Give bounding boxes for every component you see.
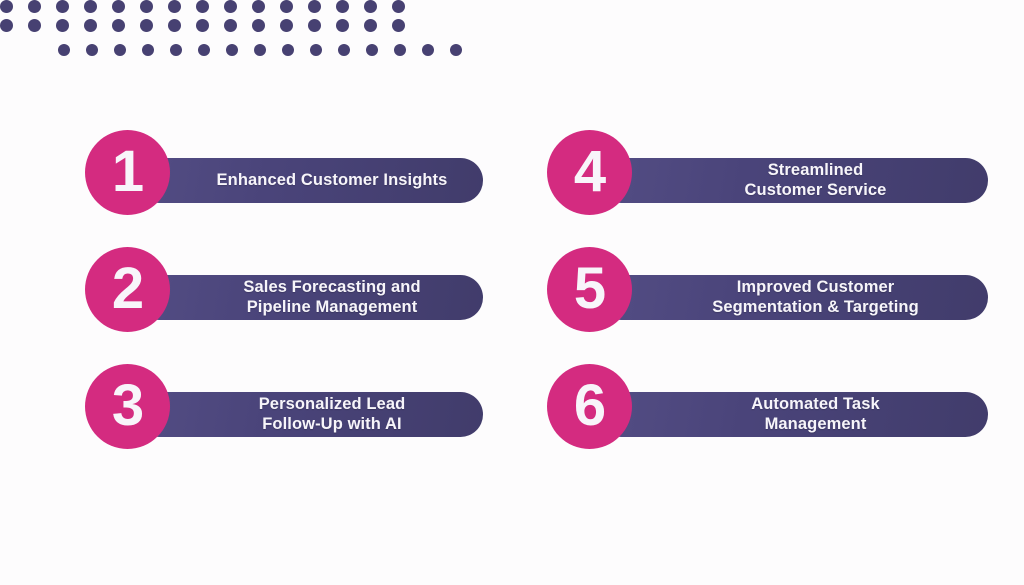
decorative-dot — [114, 44, 126, 56]
decorative-dot — [140, 19, 153, 32]
item-number: 1 — [112, 143, 143, 201]
item-number-badge: 4 — [547, 130, 632, 215]
decorative-dot — [282, 44, 294, 56]
list-item[interactable]: Enhanced Customer Insights 1 — [85, 130, 483, 215]
item-number-badge: 2 — [85, 247, 170, 332]
decorative-dot — [28, 19, 41, 32]
decorative-dot — [84, 0, 97, 13]
item-number: 5 — [574, 260, 605, 318]
decorative-dot — [196, 19, 209, 32]
item-bar: Enhanced Customer Insights — [137, 158, 483, 203]
decorative-dot — [308, 19, 321, 32]
infographic-canvas: Enhanced Customer Insights 1 Sales Forec… — [0, 0, 1024, 585]
item-number-badge: 5 — [547, 247, 632, 332]
decorative-dot — [336, 0, 349, 13]
item-label: Improved Customer Segmentation & Targeti… — [712, 278, 919, 317]
decorative-dot — [58, 44, 70, 56]
items-column-left: Enhanced Customer Insights 1 Sales Forec… — [85, 130, 483, 449]
decorative-dot — [224, 19, 237, 32]
list-item[interactable]: Automated Task Management 6 — [547, 364, 988, 449]
decorative-dot — [280, 0, 293, 13]
decorative-dot — [308, 0, 321, 13]
decorative-dot — [392, 0, 405, 13]
decorative-dot — [422, 44, 434, 56]
decorative-dot — [366, 44, 378, 56]
decorative-dot — [196, 0, 209, 13]
decorative-dot — [168, 19, 181, 32]
item-label: Personalized Lead Follow-Up with AI — [259, 395, 406, 434]
decorative-dot — [392, 19, 405, 32]
item-bar: Streamlined Customer Service — [599, 158, 988, 203]
dot-grid-row — [0, 0, 1024, 13]
decorative-dot — [254, 44, 266, 56]
items-column-right: Streamlined Customer Service 4 Improved … — [547, 130, 988, 449]
item-label: Automated Task Management — [751, 395, 880, 434]
item-number: 4 — [574, 143, 605, 201]
dot-grid-row — [0, 19, 1024, 32]
item-label: Streamlined Customer Service — [745, 161, 887, 200]
item-number-badge: 6 — [547, 364, 632, 449]
item-bar: Personalized Lead Follow-Up with AI — [137, 392, 483, 437]
decorative-dot — [450, 44, 462, 56]
item-label: Sales Forecasting and Pipeline Managemen… — [243, 278, 420, 317]
item-bar: Automated Task Management — [599, 392, 988, 437]
list-item[interactable]: Personalized Lead Follow-Up with AI 3 — [85, 364, 483, 449]
decorative-dot — [112, 19, 125, 32]
decorative-dot — [56, 0, 69, 13]
item-number: 6 — [574, 377, 605, 435]
decorative-dot — [168, 0, 181, 13]
item-bar: Sales Forecasting and Pipeline Managemen… — [137, 275, 483, 320]
decorative-dot — [112, 0, 125, 13]
decorative-dot — [0, 0, 13, 13]
decorative-dot — [252, 19, 265, 32]
item-number: 2 — [112, 260, 143, 318]
list-item[interactable]: Improved Customer Segmentation & Targeti… — [547, 247, 988, 332]
decorative-dot — [394, 44, 406, 56]
bottom-dot-grid — [0, 0, 1024, 32]
item-label: Enhanced Customer Insights — [217, 171, 448, 190]
decorative-dot — [364, 0, 377, 13]
decorative-dot — [140, 0, 153, 13]
decorative-dot — [56, 19, 69, 32]
item-bar: Improved Customer Segmentation & Targeti… — [599, 275, 988, 320]
top-dot-row — [58, 44, 462, 56]
decorative-dot — [224, 0, 237, 13]
decorative-dot — [86, 44, 98, 56]
item-number-badge: 1 — [85, 130, 170, 215]
decorative-dot — [252, 0, 265, 13]
item-number: 3 — [112, 377, 143, 435]
decorative-dot — [310, 44, 322, 56]
decorative-dot — [364, 19, 377, 32]
decorative-dot — [84, 19, 97, 32]
decorative-dot — [142, 44, 154, 56]
list-item[interactable]: Streamlined Customer Service 4 — [547, 130, 988, 215]
decorative-dot — [226, 44, 238, 56]
decorative-dot — [198, 44, 210, 56]
decorative-dot — [280, 19, 293, 32]
item-number-badge: 3 — [85, 364, 170, 449]
decorative-dot — [0, 19, 13, 32]
decorative-dot — [170, 44, 182, 56]
decorative-dot — [338, 44, 350, 56]
list-item[interactable]: Sales Forecasting and Pipeline Managemen… — [85, 247, 483, 332]
decorative-dot — [336, 19, 349, 32]
decorative-dot — [28, 0, 41, 13]
